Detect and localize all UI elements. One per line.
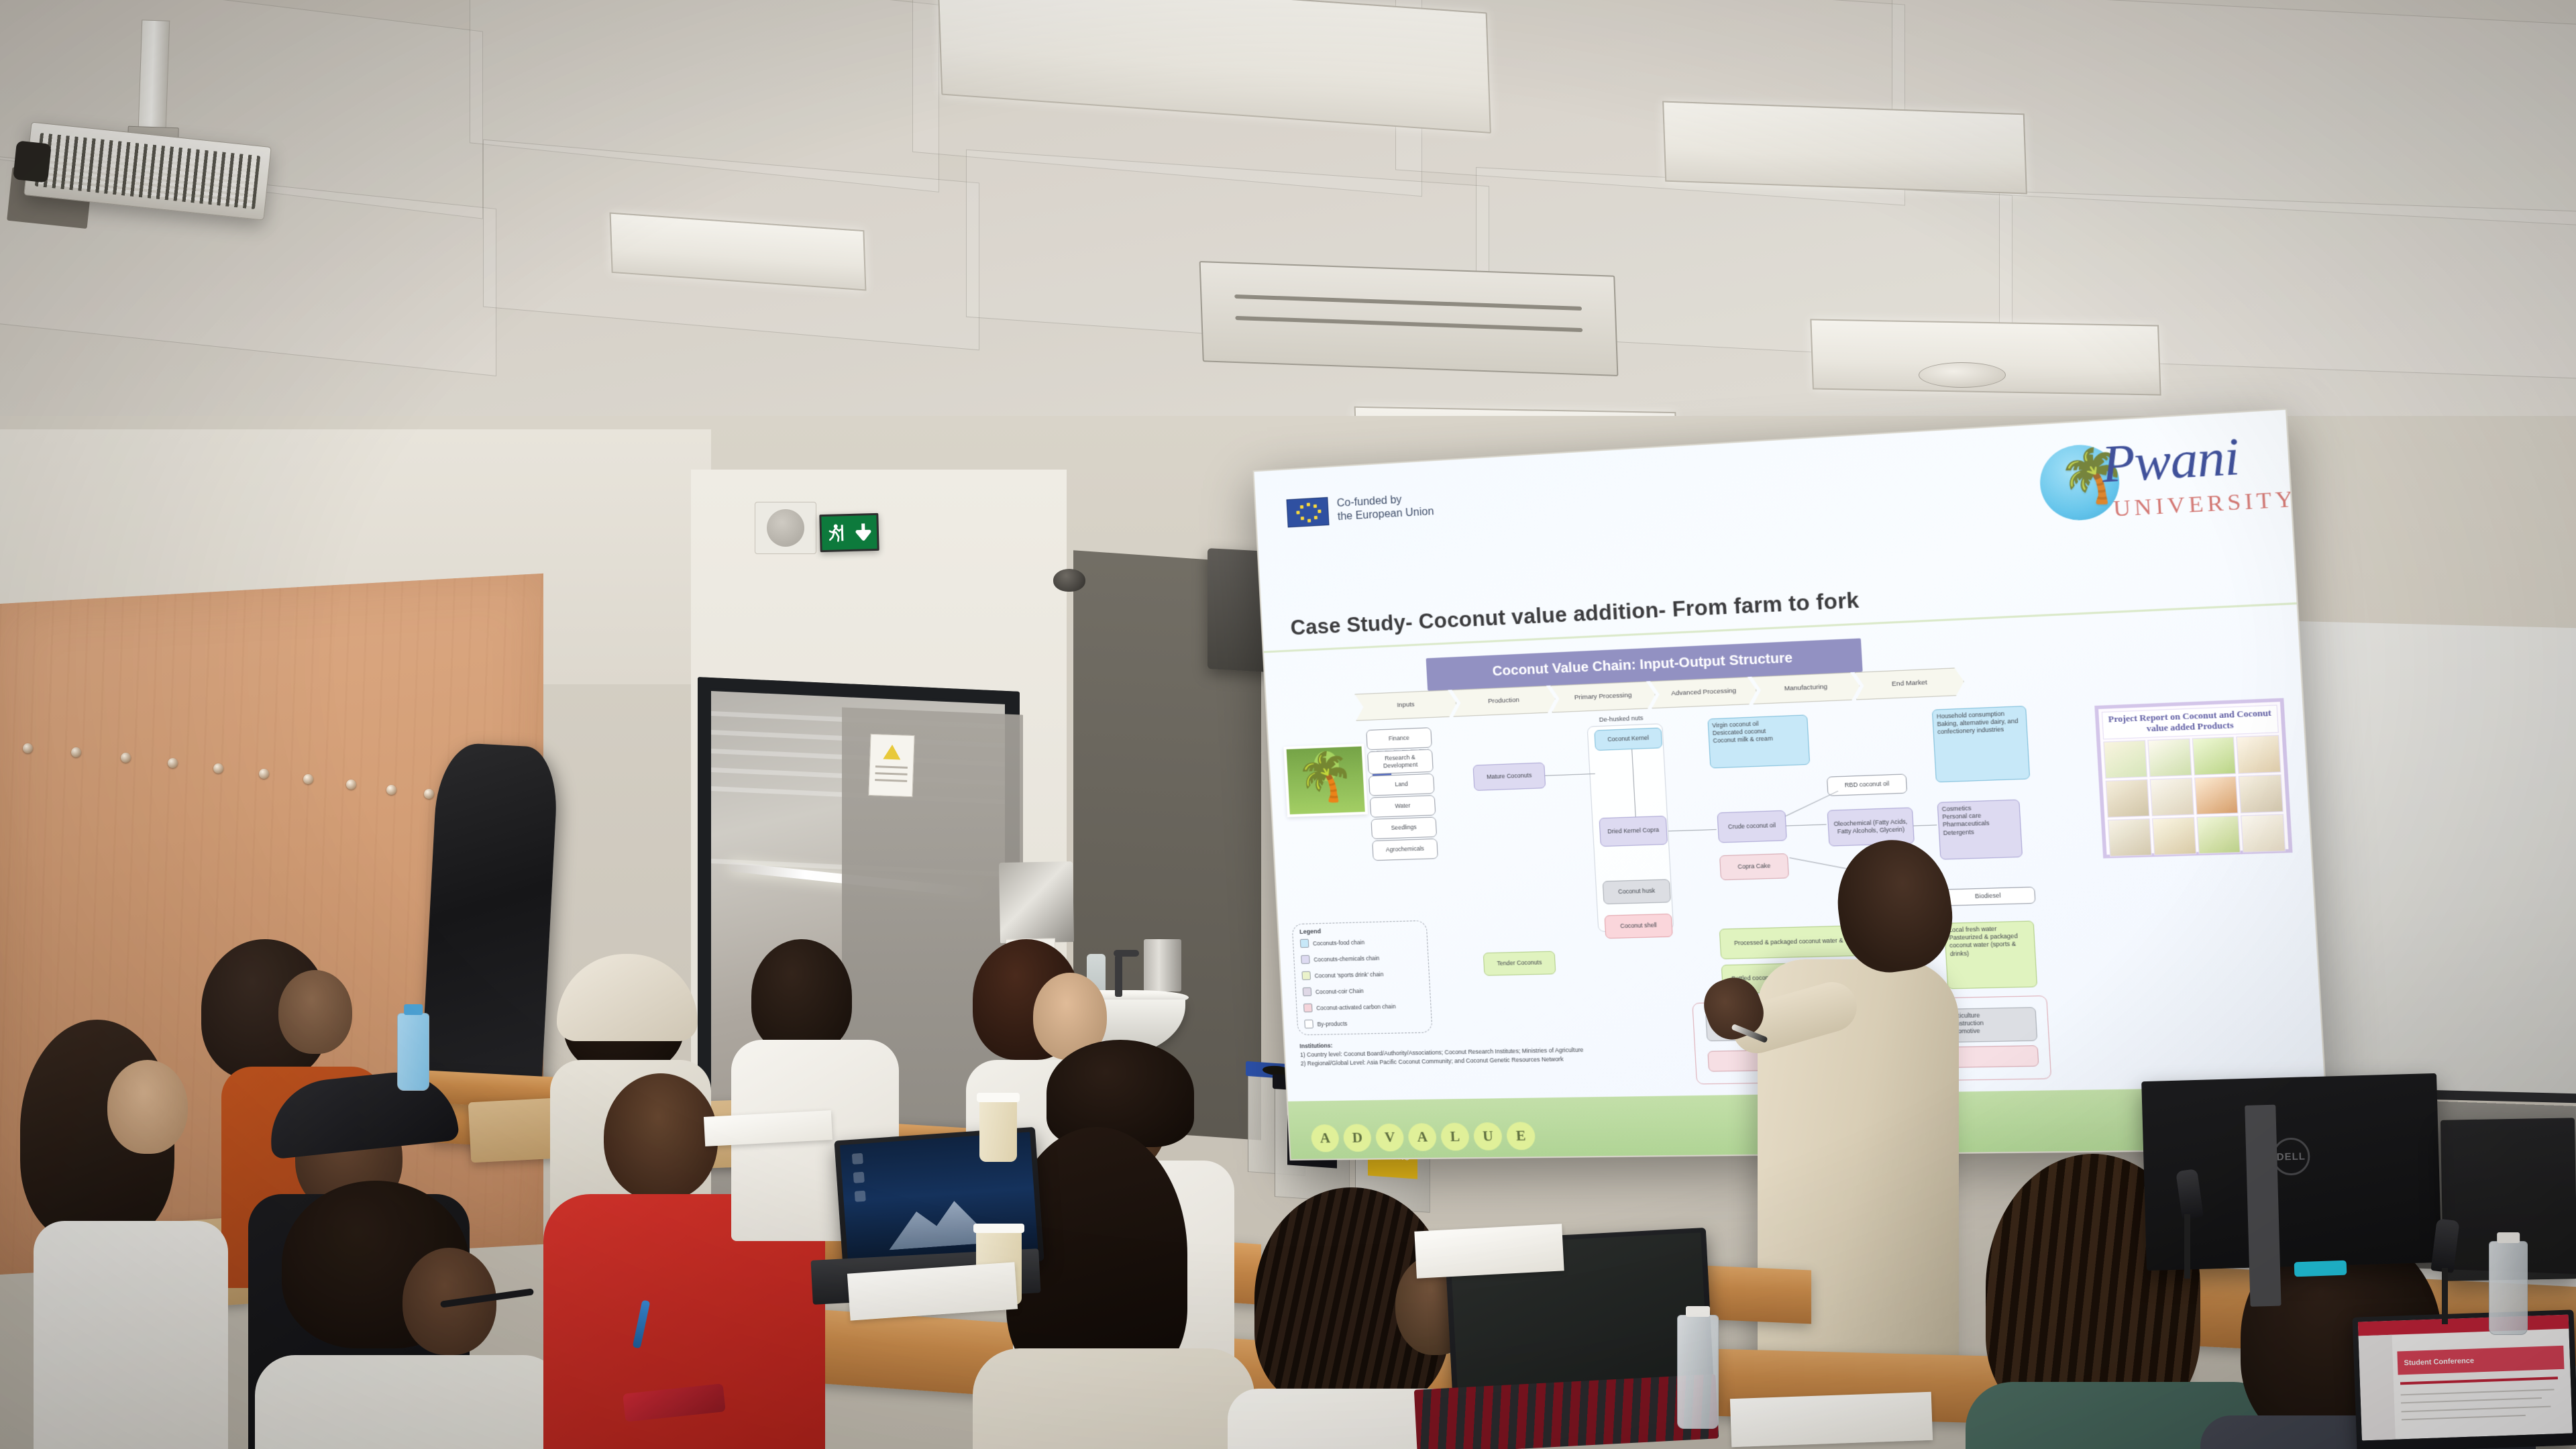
- report-image: [2103, 740, 2147, 778]
- node-cosmetics-market: Cosmetics Personal care Pharmaceuticals …: [1937, 800, 2023, 860]
- advalue-letter: L: [1440, 1122, 1470, 1150]
- arrow-down-icon: [854, 521, 872, 543]
- connector: [1786, 824, 1827, 826]
- cosmetics-bullet-4: Detergents: [1943, 828, 1990, 837]
- node-food-products: Virgin coconut oil Desiccated coconut Co…: [1707, 714, 1810, 768]
- project-report-title: Project Report on Coconut and Coconut va…: [2102, 705, 2279, 740]
- node-crude-coconut-oil: Crude coconut oil: [1717, 810, 1786, 843]
- node-coconut-shell: Coconut shell: [1604, 914, 1672, 939]
- coat-hook: [23, 743, 33, 753]
- input-land: Land: [1368, 773, 1435, 796]
- legend-label: Coconuts-chemicals chain: [1313, 955, 1380, 963]
- logo-name: Pwani: [2100, 427, 2241, 495]
- eu-flag-icon: [1286, 497, 1329, 528]
- coffee-cup[interactable]: [979, 1100, 1017, 1162]
- stage-manufacturing: Manufacturing: [1752, 672, 1860, 704]
- stage-advanced-processing: Advanced Processing: [1650, 676, 1758, 708]
- dell-logo-icon: DELL: [2272, 1138, 2311, 1177]
- stage-production: Production: [1452, 685, 1556, 716]
- advalue-letter: A: [1311, 1124, 1340, 1152]
- legend-swatch: [1300, 939, 1309, 948]
- web-page: Student Conference: [2358, 1315, 2573, 1441]
- report-image: [2196, 816, 2241, 854]
- microphone-stand: [2184, 1214, 2190, 1279]
- coat-hook: [386, 785, 396, 795]
- input-water: Water: [1370, 795, 1436, 818]
- water-bottle-blue[interactable]: [397, 1013, 429, 1091]
- conference-laptop-screen[interactable]: Student Conference: [2353, 1309, 2576, 1449]
- advalue-logo: A D V A L U E: [1311, 1122, 1536, 1152]
- advalue-letter: U: [1473, 1122, 1503, 1150]
- coat-hook: [121, 753, 131, 763]
- web-text-line: [2401, 1397, 2542, 1403]
- coat-hook: [424, 789, 434, 799]
- dehusked-label: De-husked nuts: [1599, 714, 1643, 723]
- report-image: [2108, 818, 2152, 857]
- ceiling-air-vent: [1199, 261, 1619, 376]
- bottle-cap: [1686, 1306, 1710, 1317]
- project-report-image-grid: [2103, 735, 2286, 857]
- legend-title: Legend: [1299, 928, 1321, 935]
- coat-hook: [71, 747, 81, 757]
- legend: Legend Coconuts-food chain Coconuts-chem…: [1292, 920, 1433, 1036]
- legend-swatch: [1304, 1020, 1313, 1028]
- connector: [1913, 824, 1937, 826]
- chair-back[interactable]: [468, 1098, 559, 1163]
- bottle-cap: [404, 1004, 423, 1015]
- report-image: [2152, 817, 2196, 855]
- legend-item-sports-drink: Coconut 'sports drink' chain: [1301, 969, 1383, 980]
- coat-hook: [213, 763, 223, 773]
- wall-speaker: [755, 502, 816, 554]
- cosmetics-bullet-3: Pharmaceuticals: [1943, 820, 1990, 829]
- legend-label: Coconut-coir Chain: [1316, 987, 1364, 996]
- institutions-title: Institutions:: [1299, 1042, 1333, 1049]
- legend-label: Coconut-activated carbon chain: [1316, 1003, 1396, 1012]
- bottle-cap: [2497, 1232, 2520, 1243]
- input-finance: Finance: [1366, 727, 1432, 750]
- water-bottle[interactable]: [1677, 1315, 1719, 1429]
- soap-dispenser[interactable]: [1144, 939, 1181, 991]
- head: [107, 1060, 188, 1154]
- legend-label: By-products: [1317, 1020, 1347, 1027]
- coat-hook: [346, 780, 356, 790]
- node-household-market: Household consumption Baking, alternativ…: [1932, 706, 2030, 783]
- cup-lid: [977, 1093, 1020, 1102]
- advalue-letter: V: [1375, 1124, 1405, 1152]
- node-coconut-kernel: Coconut Kernel: [1594, 727, 1662, 751]
- eu-funding-text: Co-funded by the European Union: [1336, 492, 1434, 524]
- conference-banner: Student Conference: [2397, 1346, 2564, 1375]
- projector-vent-grill: [35, 133, 261, 209]
- highlighter[interactable]: [2294, 1260, 2347, 1277]
- microphone-stand: [2442, 1268, 2448, 1324]
- web-text-line: [2400, 1389, 2554, 1395]
- door-warning-notice: [868, 734, 914, 797]
- cup-lid: [973, 1224, 1024, 1233]
- lecture-hall-scene: SMĚS MIXED PLAST PLASTIC: [0, 0, 2576, 1449]
- legend-item-food: Coconuts-food chain: [1300, 937, 1365, 948]
- project-report-card: Project Report on Coconut and Coconut va…: [2094, 698, 2292, 859]
- head: [278, 970, 352, 1054]
- legend-label: Coconuts-food chain: [1313, 938, 1364, 947]
- projector-mount: [138, 19, 170, 148]
- web-heading: [2400, 1377, 2559, 1385]
- coat-hook: [303, 774, 313, 784]
- report-image: [2237, 735, 2282, 774]
- coat-hook: [168, 758, 178, 768]
- input-seedlings: Seedlings: [1371, 816, 1437, 839]
- legend-item-coir: Coconut-coir Chain: [1303, 986, 1364, 996]
- web-sidebar[interactable]: [2359, 1335, 2396, 1440]
- web-text-line: [2402, 1415, 2526, 1420]
- stage-inputs: Inputs: [1354, 690, 1457, 721]
- faucet[interactable]: [1115, 955, 1122, 997]
- report-image: [2147, 739, 2192, 777]
- report-image: [2194, 776, 2238, 815]
- report-image: [2239, 774, 2284, 813]
- node-copra-cake: Copra Cake: [1719, 853, 1789, 880]
- report-image: [2106, 780, 2150, 818]
- laptop-display: Student Conference: [2358, 1315, 2573, 1441]
- report-image: [2241, 814, 2286, 853]
- torso: [973, 1348, 1254, 1449]
- node-dried-kernel-copra: Dried Kernel Copra: [1599, 816, 1668, 847]
- legend-item-chemicals: Coconuts-chemicals chain: [1301, 953, 1380, 964]
- advalue-letter: D: [1343, 1124, 1372, 1152]
- projector-lens: [13, 140, 52, 182]
- running-man-icon: [826, 522, 845, 544]
- hanging-coat: [420, 742, 559, 1104]
- emergency-exit-sign: [819, 513, 879, 552]
- coat-hook: [259, 769, 269, 779]
- legend-swatch: [1303, 1004, 1313, 1012]
- advalue-letter: A: [1407, 1123, 1437, 1151]
- legend-label: Coconut 'sports drink' chain: [1314, 971, 1383, 979]
- torso: [255, 1355, 563, 1449]
- legend-item-byproducts: By-products: [1304, 1019, 1347, 1028]
- report-image: [2149, 777, 2194, 816]
- input-research: Research & Development: [1367, 749, 1434, 774]
- ceiling-light-panel: [1662, 101, 2027, 194]
- head: [604, 1073, 718, 1201]
- input-agrochemicals: Agrochemicals: [1372, 839, 1438, 861]
- web-text-line: [2401, 1405, 2551, 1412]
- stage-primary-processing: Primary Processing: [1550, 681, 1656, 713]
- water-bottle[interactable]: [2489, 1241, 2528, 1335]
- node-fresh-water-market: Local fresh water Pasteurized & packaged…: [1944, 920, 2038, 989]
- hair: [751, 939, 852, 1053]
- eu-cofunding-badge: Co-funded by the European Union: [1286, 491, 1434, 528]
- paper-sheets[interactable]: [1730, 1392, 1933, 1447]
- report-image: [2192, 737, 2236, 775]
- node-biodiesel: Biodiesel: [1941, 887, 2036, 906]
- coconut-palm-photo: [1283, 743, 1368, 817]
- node-mature-coconuts: Mature Coconuts: [1472, 762, 1546, 791]
- node-rbd-coconut-oil: RBD coconut oil: [1827, 773, 1907, 796]
- food-bullet-3: Coconut milk & cream: [1713, 735, 1773, 745]
- slide-title: Case Study- Coconut value addition- From…: [1290, 588, 1860, 641]
- pwani-university-logo: 🌴 Pwani UNIVERSITY: [2033, 421, 2272, 541]
- paper-sheets[interactable]: [1414, 1224, 1564, 1278]
- water-market-bullet-2: Pasteurized & packaged coconut water (sp…: [1949, 932, 2031, 958]
- dome-camera-icon: [1053, 569, 1085, 592]
- connector: [1545, 773, 1595, 776]
- monitor-stand: [2245, 1105, 2281, 1307]
- node-tender-coconuts: Tender Coconuts: [1483, 951, 1556, 976]
- advalue-letter: E: [1506, 1122, 1536, 1150]
- stage-end-market: End Market: [1854, 667, 1964, 700]
- node-coconut-husk: Coconut husk: [1603, 879, 1671, 904]
- web-topbar: [2358, 1315, 2569, 1336]
- legend-item-carbon: Coconut-activated carbon chain: [1303, 1002, 1396, 1012]
- smoke-detector-icon: [1919, 362, 2006, 388]
- warning-triangle-icon: [883, 745, 901, 760]
- legend-swatch: [1301, 955, 1310, 964]
- torso: [34, 1221, 228, 1449]
- paper-towel-dispenser[interactable]: [999, 861, 1074, 943]
- legend-swatch: [1303, 987, 1312, 996]
- legend-swatch: [1301, 971, 1311, 980]
- household-bullet-2: Baking, alternative dairy, and confectio…: [1937, 717, 2023, 736]
- connector: [1668, 829, 1717, 832]
